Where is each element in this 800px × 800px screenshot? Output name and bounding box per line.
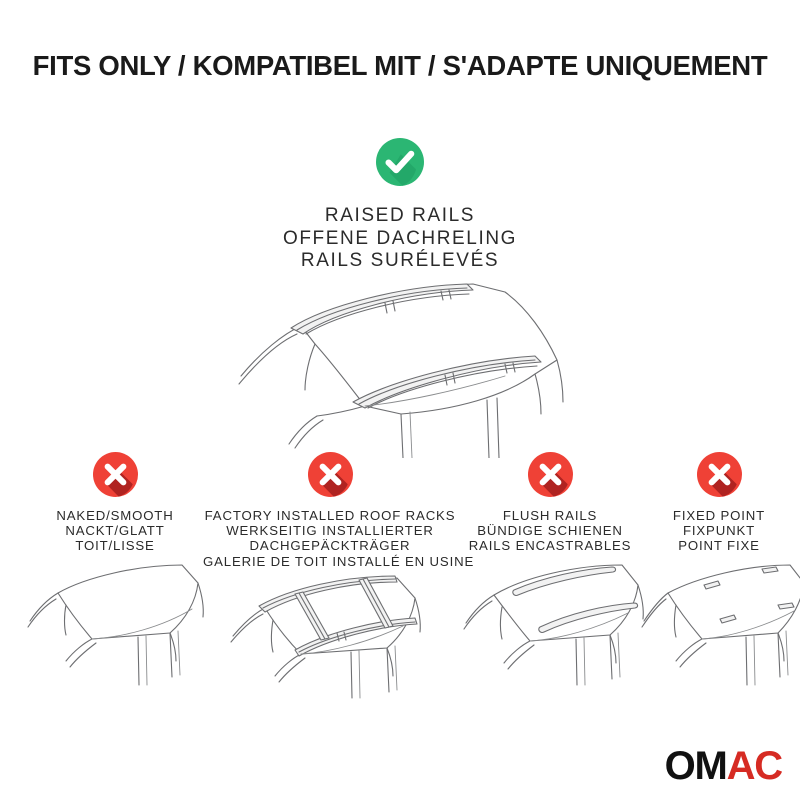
x-circle-icon bbox=[308, 452, 353, 497]
incompatible-item-naked-smooth: NAKED/SMOOTH NACKT/GLATT TOIT/LISSE bbox=[20, 452, 210, 554]
logo-text-red: AC bbox=[727, 744, 782, 788]
label-de: FIXPUNKT bbox=[638, 523, 800, 538]
label-de-2: DACHGEPÄCKTRÄGER bbox=[203, 538, 457, 553]
incompatible-labels-fixed-point: FIXED POINT FIXPUNKT POINT FIXE bbox=[638, 508, 800, 554]
label-fr: GALERIE DE TOIT INSTALLÉ EN USINE bbox=[203, 554, 457, 569]
compatible-section: RAISED RAILS OFFENE DACHRELING RAILS SUR… bbox=[0, 138, 800, 273]
label-en: FACTORY INSTALLED ROOF RACKS bbox=[203, 508, 457, 523]
incompatible-labels-flush-rails: FLUSH RAILS BÜNDIGE SCHIENEN RAILS ENCAS… bbox=[452, 508, 648, 554]
car-roof-factory-roof-rack-illustration bbox=[203, 570, 457, 705]
compatible-label-fr: RAILS SURÉLEVÉS bbox=[0, 250, 800, 273]
car-roof-with-raised-rails-illustration bbox=[205, 278, 595, 458]
car-roof-naked-smooth-illustration bbox=[20, 557, 210, 697]
x-circle-icon bbox=[697, 452, 742, 497]
omac-logo: OMAC bbox=[665, 746, 782, 786]
incompatible-labels-naked-smooth: NAKED/SMOOTH NACKT/GLATT TOIT/LISSE bbox=[20, 508, 210, 554]
x-circle-icon bbox=[93, 452, 138, 497]
car-roof-flush-rails-illustration bbox=[452, 557, 648, 697]
label-de: NACKT/GLATT bbox=[20, 523, 210, 538]
logo-text-dark: OM bbox=[665, 744, 727, 788]
compatible-label-en: RAISED RAILS bbox=[0, 205, 800, 228]
label-en: FIXED POINT bbox=[638, 508, 800, 523]
incompatible-labels-factory-roof-rack: FACTORY INSTALLED ROOF RACKS WERKSEITIG … bbox=[203, 508, 457, 569]
label-fr: RAILS ENCASTRABLES bbox=[452, 538, 648, 553]
label-fr: POINT FIXE bbox=[638, 538, 800, 553]
label-en: FLUSH RAILS bbox=[452, 508, 648, 523]
label-de-1: WERKSEITIG INSTALLIERTER bbox=[203, 523, 457, 538]
page-title: FITS ONLY / KOMPATIBEL MIT / S'ADAPTE UN… bbox=[0, 50, 800, 82]
label-en: NAKED/SMOOTH bbox=[20, 508, 210, 523]
label-fr: TOIT/LISSE bbox=[20, 538, 210, 553]
compatible-labels: RAISED RAILS OFFENE DACHRELING RAILS SUR… bbox=[0, 205, 800, 273]
car-roof-fixed-point-illustration bbox=[638, 557, 800, 697]
incompatible-section: NAKED/SMOOTH NACKT/GLATT TOIT/LISSE bbox=[0, 452, 800, 692]
compatible-label-de: OFFENE DACHRELING bbox=[0, 228, 800, 251]
incompatible-item-factory-roof-rack: FACTORY INSTALLED ROOF RACKS WERKSEITIG … bbox=[203, 452, 457, 569]
incompatible-item-fixed-point: FIXED POINT FIXPUNKT POINT FIXE bbox=[638, 452, 800, 554]
incompatible-item-flush-rails: FLUSH RAILS BÜNDIGE SCHIENEN RAILS ENCAS… bbox=[452, 452, 648, 554]
x-circle-icon bbox=[528, 452, 573, 497]
check-circle-icon bbox=[376, 138, 424, 186]
label-de: BÜNDIGE SCHIENEN bbox=[452, 523, 648, 538]
